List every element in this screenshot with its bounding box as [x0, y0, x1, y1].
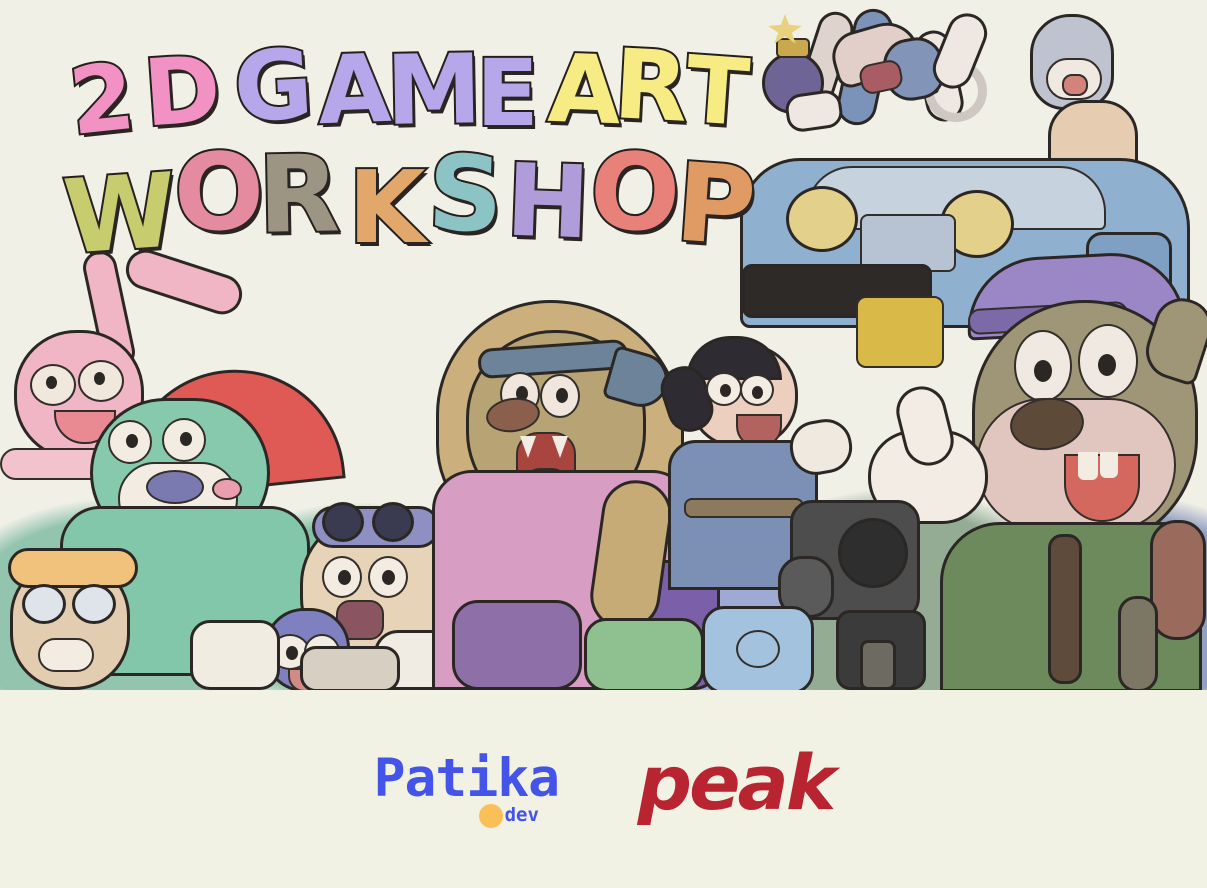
- goggle-lens-left: [322, 502, 364, 542]
- bear-nose: [146, 470, 204, 504]
- rabbit-pupil-right: [94, 372, 105, 385]
- title-letter-w: W: [61, 160, 180, 270]
- small-pilot-cap: [8, 548, 138, 588]
- squirrel-tooth-left: [1078, 452, 1098, 480]
- goggle-bear-pupil-left: [338, 570, 351, 585]
- goggle-bear-pupil-right: [382, 570, 395, 585]
- girl-belt: [684, 498, 804, 518]
- small-pilot-goggle-left: [22, 584, 66, 624]
- title-letter-m: M: [385, 41, 482, 139]
- bear-pupil-left: [126, 434, 138, 448]
- tripod-leg: [860, 640, 896, 690]
- crowd-blob-3: [584, 618, 704, 690]
- title-letter-o1: O: [172, 138, 266, 247]
- squirrel-pupil-right: [1098, 354, 1116, 376]
- squirrel-shoulder-strap: [1048, 534, 1082, 684]
- title-letter-o2: O: [587, 138, 683, 249]
- patika-dev-logo[interactable]: Patika dev: [374, 746, 552, 832]
- girl-pupil-left: [720, 384, 731, 397]
- title-letter-e: E: [476, 48, 539, 140]
- raccoon-mouth: [1062, 74, 1088, 96]
- bird-pupil-left: [286, 646, 298, 660]
- car-headlight-left: [786, 186, 858, 252]
- girl-pupil-right: [752, 386, 763, 399]
- patika-dot-icon: [479, 804, 503, 828]
- title-letter-h: H: [504, 151, 591, 254]
- lion-pupil-right: [556, 388, 568, 403]
- crowd-blob-2: [452, 600, 582, 690]
- sponsor-logo-bar: Patika dev peak: [0, 690, 1207, 888]
- peak-logo[interactable]: peak: [638, 745, 834, 821]
- title-letter-k: K: [348, 158, 426, 258]
- poster-title: 2 D G A M E A R T W O R K S H O P: [56, 36, 736, 266]
- title-letter-s: S: [426, 141, 504, 248]
- camera-lens: [838, 518, 908, 588]
- title-letter-p: P: [672, 149, 758, 262]
- title-letter-a1: A: [316, 43, 392, 139]
- small-pilot-goggle-right: [72, 584, 116, 624]
- patika-dev-suffix: dev: [505, 806, 539, 825]
- squirrel-backpack-strap: [1150, 520, 1206, 640]
- goggle-lens-right: [372, 502, 414, 542]
- tripod-leg-right: [1118, 596, 1158, 690]
- title-letter-r2: R: [257, 141, 340, 248]
- crowd-blob-4: [300, 646, 400, 690]
- crowd-blob-1: [190, 620, 280, 690]
- squirrel-tooth-right: [1100, 452, 1118, 478]
- bear-cheek: [212, 478, 242, 500]
- crowd-backpack-logo: [736, 630, 780, 668]
- small-pilot-muzzle: [38, 638, 94, 672]
- poster-page: 2 D G A M E A R T W O R K S H O P Patika…: [0, 0, 1207, 888]
- squirrel-pupil-left: [1034, 360, 1052, 382]
- title-letter-r1: R: [612, 36, 691, 136]
- title-letter-t: T: [683, 44, 752, 140]
- bear-pupil-right: [180, 432, 192, 446]
- patika-wordmark: Patika: [374, 752, 559, 805]
- car-license-plate: [856, 296, 944, 368]
- title-letter-2: 2: [65, 51, 138, 149]
- title-letter-g: G: [232, 36, 316, 136]
- title-letter-d: D: [141, 43, 224, 140]
- hero-artwork: 2 D G A M E A R T W O R K S H O P: [0, 0, 1207, 690]
- rabbit-pupil-left: [46, 376, 57, 389]
